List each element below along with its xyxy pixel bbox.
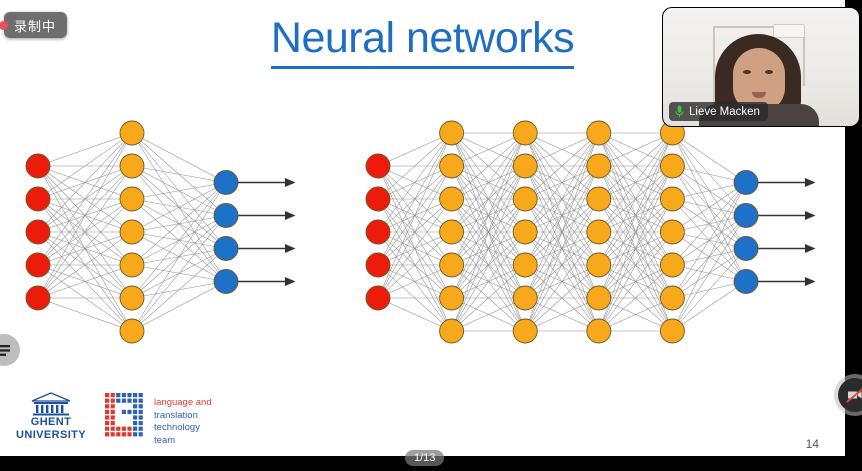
lt3-logo-words: language and translation technology team xyxy=(154,392,212,447)
participant-video-tile[interactable]: Lieve Macken xyxy=(663,8,859,126)
recording-badge[interactable]: 录制中 xyxy=(4,12,67,38)
recording-badge-label: 录制中 xyxy=(14,16,56,35)
ceiling-lamp xyxy=(773,24,805,38)
footer-logos: GHENT UNIVERSITY language and translatio… xyxy=(16,392,212,447)
participant-name-chip: Lieve Macken xyxy=(669,102,768,121)
microphone-icon xyxy=(675,105,684,118)
lt3-line3: technology xyxy=(154,422,212,435)
person-mouth xyxy=(752,92,766,98)
ghent-university-logo: GHENT UNIVERSITY xyxy=(16,392,86,441)
person-eye-left xyxy=(743,70,751,74)
camera-off-icon xyxy=(845,385,862,405)
ghent-temple-icon xyxy=(30,392,72,416)
participant-name-label: Lieve Macken xyxy=(689,106,760,118)
lt3-dot-grid-icon xyxy=(104,392,148,440)
lt3-logo: language and translation technology team xyxy=(104,392,212,447)
slide-number: 14 xyxy=(806,437,819,451)
lt3-line1: language and xyxy=(154,397,212,410)
person-eye-right xyxy=(765,70,773,74)
ghent-logo-line2: UNIVERSITY xyxy=(16,429,86,442)
layout-icon xyxy=(0,345,10,356)
shallow-network-diagram xyxy=(18,112,308,352)
page-title-text: Neural networks xyxy=(271,14,574,69)
screen-root: Neural networks xyxy=(0,0,862,471)
page-indicator: 1/13 xyxy=(405,450,444,466)
ghent-logo-line1: GHENT xyxy=(31,416,72,429)
deep-network-diagram xyxy=(358,112,828,352)
lt3-line4: team xyxy=(154,435,212,448)
recording-dot-icon xyxy=(0,21,8,30)
lt3-line2: translation xyxy=(154,410,212,423)
